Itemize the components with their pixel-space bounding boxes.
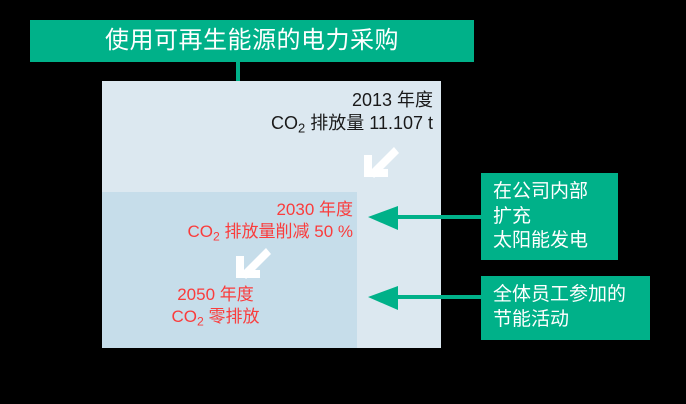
title-banner: 使用可再生能源的电力采购 (30, 20, 474, 62)
milestone-label-2050: 2050 年度 CO2 零排放 (108, 284, 323, 330)
milestone-2013-year: 2013 年度 (271, 89, 433, 112)
milestone-2050-value: CO2 零排放 (108, 306, 323, 330)
co2-subscript: 2 (197, 314, 204, 328)
co2-prefix: CO (271, 113, 298, 133)
milestone-2013-value: CO2 排放量 11.107 t (271, 112, 433, 137)
diagram-root: 使用可再生能源的电力采购 2013 年度 CO2 排放量 11.107 t (0, 0, 686, 404)
milestone-2030-value: CO2 排放量削减 50 % (108, 221, 353, 245)
callout-energy-saving-line-2: 节能活动 (493, 308, 640, 333)
callout-solar-line-3: 太阳能发电 (493, 229, 608, 254)
milestone-label-2030: 2030 年度 CO2 排放量削减 50 % (108, 199, 353, 245)
connector-arrow-energy-saving (368, 285, 483, 316)
milestone-label-2013: 2013 年度 CO2 排放量 11.107 t (271, 89, 433, 137)
co2-suffix: 零排放 (204, 307, 260, 326)
reduction-arrow-1-icon (358, 143, 400, 190)
co2-prefix: CO (187, 222, 213, 241)
co2-prefix: CO (171, 307, 197, 326)
co2-subscript: 2 (213, 229, 220, 243)
callout-solar-line-1: 在公司内部 (493, 180, 608, 205)
callout-energy-saving: 全体员工参加的 节能活动 (481, 276, 650, 340)
callout-energy-saving-line-1: 全体员工参加的 (493, 283, 640, 308)
callout-solar-line-2: 扩充 (493, 205, 608, 230)
connector-arrow-solar (368, 205, 483, 236)
callout-solar: 在公司内部 扩充 太阳能发电 (481, 173, 618, 260)
co2-suffix: 排放量削减 50 % (220, 222, 353, 241)
co2-suffix: 排放量 11.107 t (305, 113, 433, 133)
milestone-2050-year: 2050 年度 (108, 284, 323, 306)
title-text: 使用可再生能源的电力采购 (105, 29, 399, 53)
milestone-2030-year: 2030 年度 (108, 199, 353, 221)
